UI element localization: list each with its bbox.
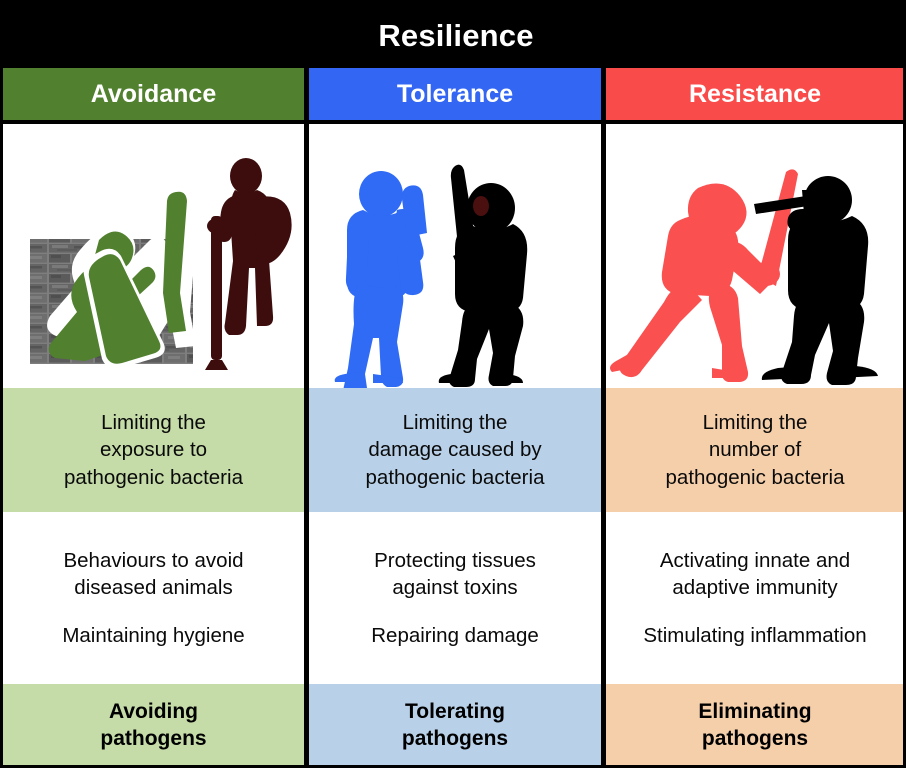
resistance-artwork [606,124,904,388]
sword-guard [802,190,814,214]
outcome-line: Avoiding [109,700,198,723]
red-swordfighter-figure [610,169,798,382]
definition-line: pathogenic bacteria [666,466,845,489]
definition-line: exposure to [100,438,207,461]
definition-line: Limiting the [703,411,808,434]
outcome-line: Eliminating [698,700,811,723]
outcome-resistance: Eliminating pathogens [606,684,904,768]
avoidance-artwork [3,124,304,388]
illustration-avoidance [3,124,304,388]
dark-red-guard-figure [205,158,292,370]
example-item: Behaviours to avoid diseased animals [63,547,243,602]
diagram-title-banner: Resilience [3,3,906,68]
example-line: against toxins [392,576,517,599]
header-resistance-label: Resistance [689,80,821,109]
resilience-diagram: Resilience Avoidance [0,0,906,768]
definition-line: pathogenic bacteria [366,466,545,489]
example-line: Maintaining hygiene [62,624,244,647]
outcome-line: pathogens [100,727,206,750]
column-avoidance: Avoidance [3,68,304,768]
header-avoidance: Avoidance [3,68,304,124]
examples-tolerance: Protecting tissues against toxins Repair… [309,512,601,684]
definition-line: Limiting the [101,411,206,434]
example-line: adaptive immunity [672,576,837,599]
definition-resistance: Limiting the number of pathogenic bacter… [606,388,904,512]
header-avoidance-label: Avoidance [91,80,217,109]
example-line: Repairing damage [371,624,539,647]
definition-avoidance: Limiting the exposure to pathogenic bact… [3,388,304,512]
outcome-line: pathogens [402,727,508,750]
outcome-line: pathogens [702,727,808,750]
example-line: diseased animals [74,576,232,599]
definition-line: pathogenic bacteria [64,466,243,489]
column-grid: Avoidance [3,68,906,768]
examples-avoidance: Behaviours to avoid diseased animals Mai… [3,512,304,684]
outcome-tolerance: Tolerating pathogens [309,684,601,768]
example-line: Behaviours to avoid [63,549,243,572]
example-item: Protecting tissues against toxins [374,547,536,602]
illustration-resistance [606,124,904,388]
definition-line: Limiting the [403,411,508,434]
example-line: Activating innate and [660,549,850,572]
illustration-tolerance [309,124,601,388]
tolerance-artwork [309,124,601,388]
page-title: Resilience [378,18,533,54]
examples-resistance: Activating innate and adaptive immunity … [606,512,904,684]
black-attacker-figure [439,165,527,387]
column-tolerance: Tolerance [304,68,606,768]
example-line: Stimulating inflammation [643,624,866,647]
example-line: Protecting tissues [374,549,536,572]
example-item: Stimulating inflammation [643,622,866,649]
header-tolerance: Tolerance [309,68,601,124]
definition-line: damage caused by [368,438,541,461]
definition-line: number of [709,438,801,461]
outcome-avoidance: Avoiding pathogens [3,684,304,768]
header-resistance: Resistance [606,68,904,124]
example-item: Activating innate and adaptive immunity [660,547,850,602]
column-resistance: Resistance [606,68,904,768]
header-tolerance-label: Tolerance [397,80,513,109]
blue-defender-figure [335,171,427,388]
example-item: Repairing damage [371,622,539,649]
example-item: Maintaining hygiene [62,622,244,649]
definition-tolerance: Limiting the damage caused by pathogenic… [309,388,601,512]
outcome-line: Tolerating [405,700,505,723]
